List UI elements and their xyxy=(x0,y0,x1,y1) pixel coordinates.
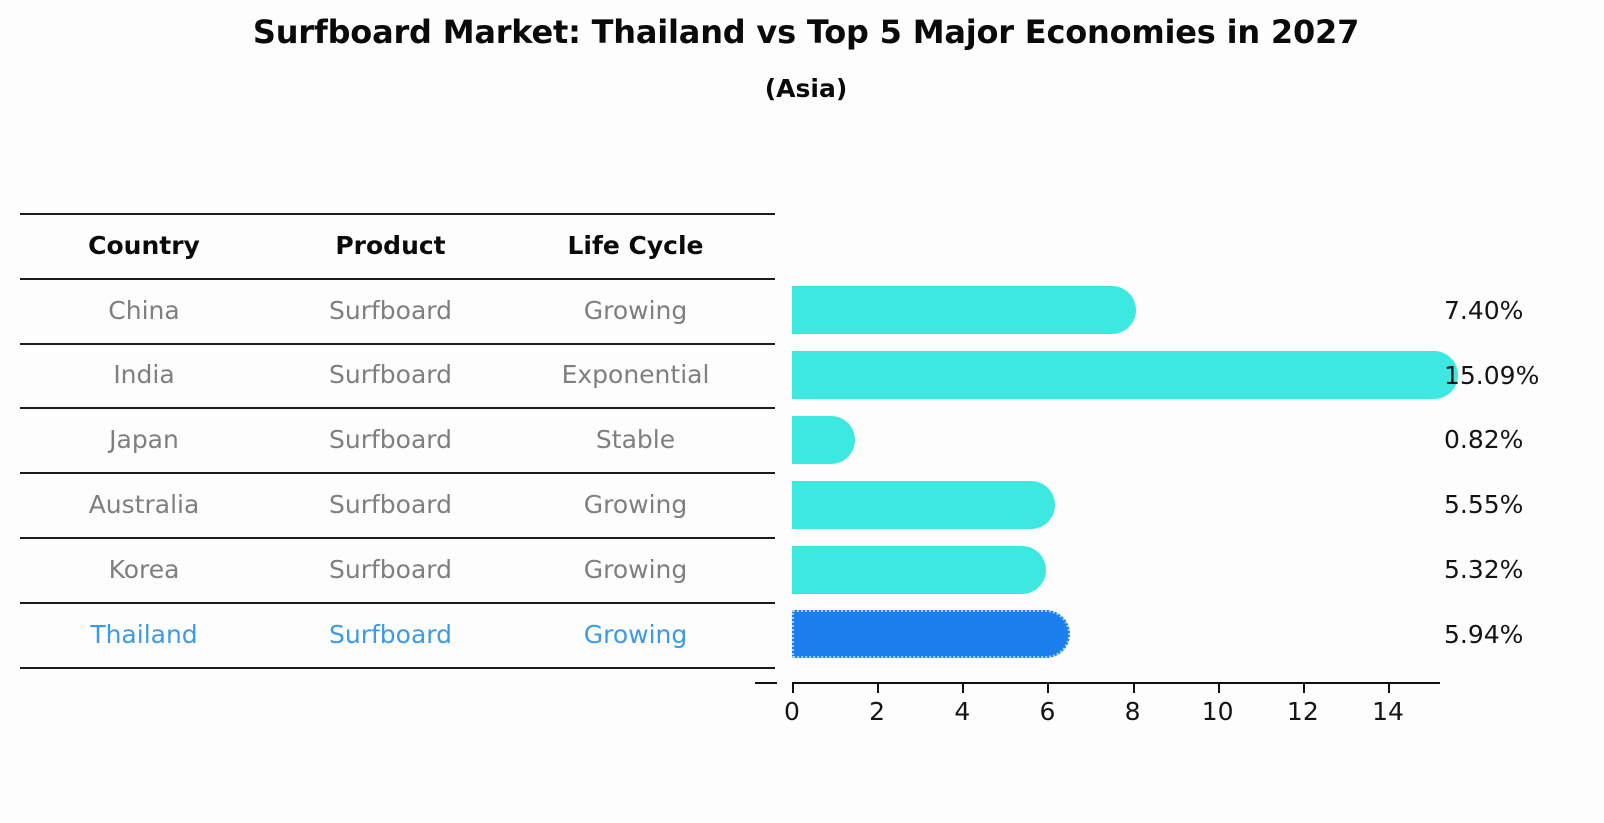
x-axis-tick xyxy=(877,684,879,693)
table-rule xyxy=(20,472,775,474)
x-axis-tick-label: 4 xyxy=(954,697,970,726)
table-rule xyxy=(20,407,775,409)
cell-product: Surfboard xyxy=(268,360,513,389)
table-row[interactable]: Japan Surfboard Stable xyxy=(20,407,775,472)
cell-product: Surfboard xyxy=(268,490,513,519)
x-axis-tick xyxy=(962,684,964,693)
cell-country: Australia xyxy=(20,490,268,519)
cell-life-cycle: Exponential xyxy=(513,360,758,389)
bar-india[interactable] xyxy=(792,351,1458,399)
cell-product: Surfboard xyxy=(268,296,513,325)
cell-life-cycle: Stable xyxy=(513,425,758,454)
cell-country: India xyxy=(20,360,268,389)
table-row[interactable]: Australia Surfboard Growing xyxy=(20,472,775,537)
bar-thailand[interactable] xyxy=(792,610,1070,658)
cell-life-cycle: Growing xyxy=(513,490,758,519)
bar-row-china[interactable]: 7.40% xyxy=(792,278,1136,343)
column-header-life-cycle: Life Cycle xyxy=(513,231,758,260)
cell-country: Japan xyxy=(20,425,268,454)
bar-row-australia[interactable]: 5.55% xyxy=(792,472,1055,537)
x-axis-tick xyxy=(1303,684,1305,693)
x-axis-tick xyxy=(1218,684,1220,693)
title-block: Surfboard Market: Thailand vs Top 5 Majo… xyxy=(0,12,1604,103)
bar-label-korea: 5.32% xyxy=(1444,557,1523,582)
x-axis-tick-label: 10 xyxy=(1202,697,1234,726)
table-row[interactable]: India Surfboard Exponential xyxy=(20,343,775,408)
table-rule xyxy=(20,537,775,539)
x-axis-tick xyxy=(1047,684,1049,693)
cell-product: Surfboard xyxy=(268,555,513,584)
table-rule xyxy=(20,213,775,215)
x-axis-tick-label: 0 xyxy=(784,697,800,726)
x-axis-tick-label: 6 xyxy=(1039,697,1055,726)
column-header-product: Product xyxy=(268,231,513,260)
bar-korea[interactable] xyxy=(792,546,1046,594)
table-row-highlighted[interactable]: Thailand Surfboard Growing xyxy=(20,602,775,667)
table-rule xyxy=(20,602,775,604)
bar-japan[interactable] xyxy=(792,416,855,464)
cell-product: Surfboard xyxy=(268,620,513,649)
x-axis-tick xyxy=(1133,684,1135,693)
x-axis-tick-label: 12 xyxy=(1287,697,1319,726)
bar-label-china: 7.40% xyxy=(1444,298,1523,323)
x-axis-tick-label: 14 xyxy=(1372,697,1404,726)
table-header-row: Country Product Life Cycle xyxy=(20,213,775,278)
bar-plot: 7.40% 15.09% 0.82% 5.55% 5.32% 5.94% xyxy=(792,278,1492,690)
cell-country: China xyxy=(20,296,268,325)
bar-row-korea[interactable]: 5.32% xyxy=(792,537,1046,602)
cell-country: Korea xyxy=(20,555,268,584)
data-table: Country Product Life Cycle China Surfboa… xyxy=(20,213,775,683)
bar-row-japan[interactable]: 0.82% xyxy=(792,408,855,473)
cell-product: Surfboard xyxy=(268,425,513,454)
x-axis-tick-label: 2 xyxy=(869,697,885,726)
bar-row-thailand[interactable]: 5.94% xyxy=(792,602,1070,667)
axis-stub xyxy=(755,682,777,684)
page-title: Surfboard Market: Thailand vs Top 5 Majo… xyxy=(0,12,1604,52)
cell-life-cycle: Growing xyxy=(513,555,758,584)
cell-life-cycle: Growing xyxy=(513,296,758,325)
bar-china[interactable] xyxy=(792,286,1136,334)
chart-figure: Surfboard Market: Thailand vs Top 5 Majo… xyxy=(0,0,1604,823)
cell-country: Thailand xyxy=(20,620,268,649)
bar-label-japan: 0.82% xyxy=(1444,427,1523,452)
x-axis-tick-label: 8 xyxy=(1125,697,1141,726)
x-axis-tick xyxy=(1388,684,1390,693)
bar-label-india: 15.09% xyxy=(1444,363,1539,388)
table-rule xyxy=(20,343,775,345)
bar-australia[interactable] xyxy=(792,481,1055,529)
bar-label-thailand: 5.94% xyxy=(1444,622,1523,647)
x-axis: 02468101214 xyxy=(792,682,1440,684)
cell-life-cycle: Growing xyxy=(513,620,758,649)
bar-label-australia: 5.55% xyxy=(1444,492,1523,517)
column-header-country: Country xyxy=(20,231,268,260)
table-rule xyxy=(20,667,775,669)
chart-subtitle: (Asia) xyxy=(0,74,1604,103)
table-rule xyxy=(20,278,775,280)
table-row[interactable]: China Surfboard Growing xyxy=(20,278,775,343)
x-axis-tick xyxy=(792,684,794,693)
bar-row-india[interactable]: 15.09% xyxy=(792,343,1458,408)
table-row[interactable]: Korea Surfboard Growing xyxy=(20,537,775,602)
